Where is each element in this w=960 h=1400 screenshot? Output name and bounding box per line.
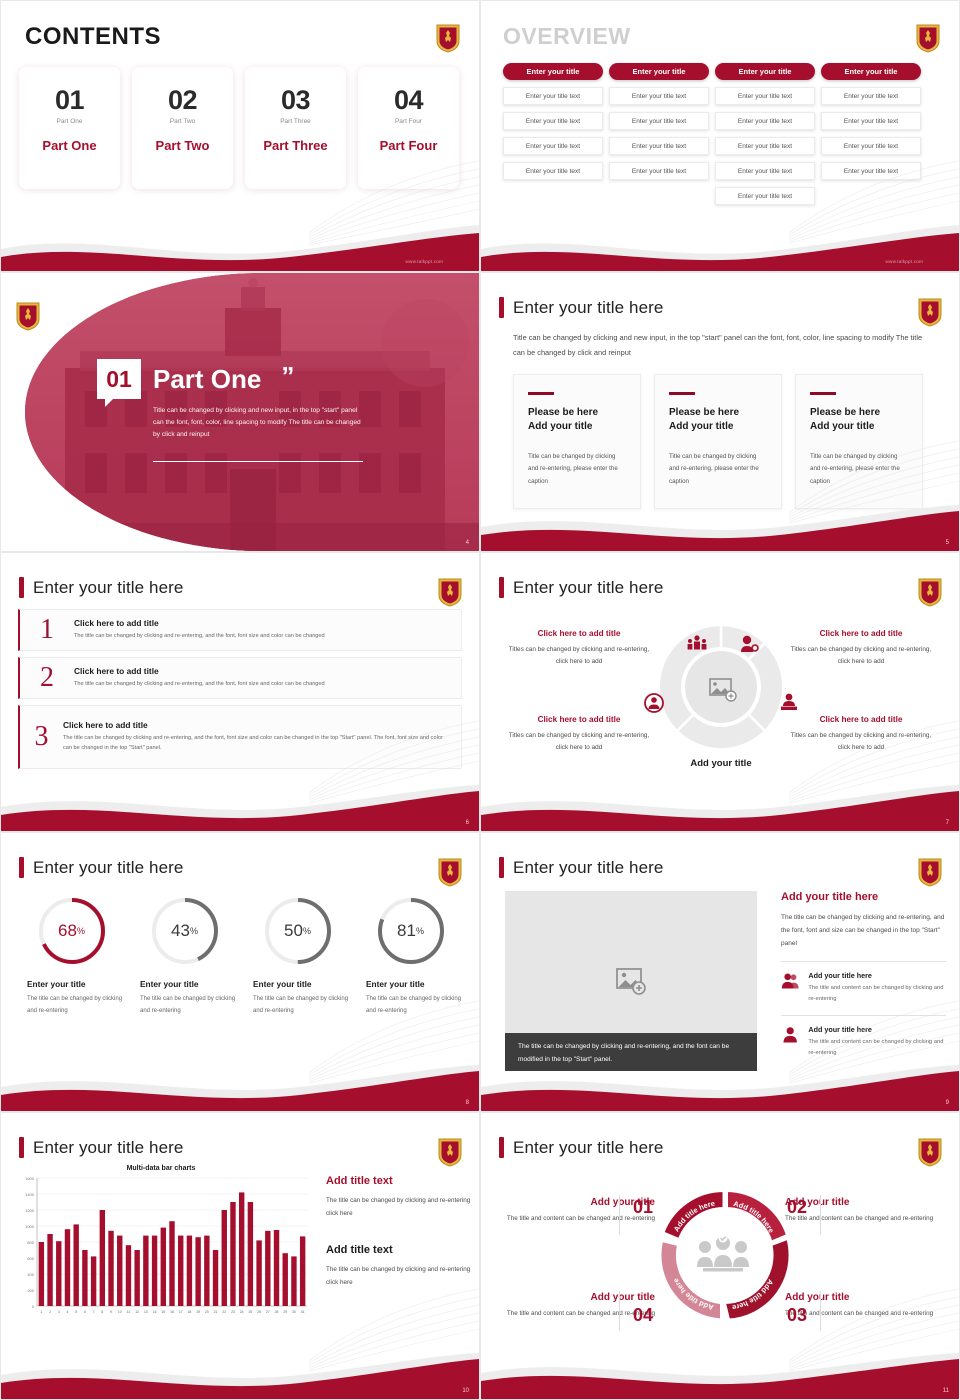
- wave-footer: [481, 785, 959, 831]
- cycle-text-02[interactable]: Add your title The title and content can…: [785, 1197, 935, 1225]
- svg-text:16: 16: [170, 1310, 174, 1314]
- title-text: Enter your title here: [513, 1138, 663, 1158]
- title-accent-bar: [19, 577, 24, 598]
- quadrant-heading: Add your title: [785, 1292, 935, 1303]
- chart-title: Multi-data bar charts: [11, 1165, 311, 1172]
- progress-ring: 43%: [149, 895, 221, 967]
- overview-item[interactable]: Enter your title text: [821, 162, 921, 180]
- list-description: The title can be changed by clicking and…: [63, 734, 445, 754]
- overview-item[interactable]: Enter your title text: [503, 137, 603, 155]
- svg-text:2: 2: [49, 1310, 51, 1314]
- block-heading: Add title text: [326, 1175, 476, 1187]
- ring-value: 43: [171, 921, 190, 941]
- wave-footer: [481, 1065, 959, 1111]
- page-number: 4: [466, 540, 469, 546]
- title-text: Enter your title here: [33, 578, 183, 598]
- ring-cell[interactable]: 50% Enter your title The title can be ch…: [241, 895, 354, 1017]
- svg-text:4: 4: [67, 1310, 69, 1314]
- svg-text:25: 25: [248, 1310, 252, 1314]
- person-circle-icon: [644, 693, 664, 713]
- quote-mark-icon: ”: [281, 359, 294, 393]
- donut-graphic: [653, 619, 789, 755]
- svg-text:1200: 1200: [25, 1208, 35, 1213]
- svg-text:8: 8: [101, 1310, 103, 1314]
- svg-text:17: 17: [179, 1310, 183, 1314]
- list-title: Click here to add title: [63, 720, 445, 730]
- donut-label-top-left[interactable]: Click here to add title Titles can be ch…: [503, 629, 655, 669]
- svg-text:13: 13: [144, 1310, 148, 1314]
- svg-text:1: 1: [40, 1310, 42, 1314]
- overview-item[interactable]: Enter your title text: [609, 162, 709, 180]
- list-desc: The title and content can be changed by …: [808, 983, 946, 1004]
- hatch-decoration: [789, 1267, 959, 1377]
- label-desc: Titles can be changed by clicking and re…: [503, 644, 655, 669]
- card-subtitle: Part One: [19, 118, 120, 125]
- card-description: Title can be changed by clicking and re-…: [528, 451, 626, 488]
- overview-item[interactable]: Enter your title text: [609, 87, 709, 105]
- svg-text:1400: 1400: [25, 1192, 35, 1197]
- overview-column: Enter your title Enter your title text E…: [503, 63, 603, 205]
- list-desc: The title and content can be changed by …: [808, 1037, 946, 1058]
- feature-card[interactable]: Please be here Add your title Title can …: [795, 374, 923, 509]
- right-panel: Add your title here The title can be cha…: [781, 891, 946, 1069]
- svg-text:12: 12: [135, 1310, 139, 1314]
- contents-card[interactable]: 04 Part Four Part Four: [358, 67, 459, 189]
- crest-logo: [917, 577, 943, 607]
- wave-footer: [1, 225, 479, 271]
- feature-card[interactable]: Please be here Add your title Title can …: [513, 374, 641, 509]
- card-title-line2: Add your title: [810, 420, 908, 434]
- progress-ring: 50%: [262, 895, 334, 967]
- overview-item[interactable]: Enter your title text: [715, 137, 815, 155]
- page-number: 10: [462, 1388, 469, 1394]
- svg-text:6: 6: [84, 1310, 86, 1314]
- divider: [619, 1195, 620, 1235]
- label-desc: Titles can be changed by clicking and re…: [785, 730, 937, 755]
- overview-item[interactable]: Enter your title text: [503, 162, 603, 180]
- card-title-line2: Add your title: [528, 420, 626, 434]
- ring-cell[interactable]: 43% Enter your title The title can be ch…: [128, 895, 241, 1017]
- divider-rule: [153, 461, 363, 462]
- card-dash-accent: [669, 392, 695, 395]
- card-description: Title can be changed by clicking and re-…: [669, 451, 767, 488]
- image-placeholder-icon: [615, 967, 647, 995]
- contents-card[interactable]: 01 Part One Part One: [19, 67, 120, 189]
- ring-value: 68: [58, 921, 77, 941]
- card-description: Title can be changed by clicking and re-…: [810, 451, 908, 488]
- card-title-line1: Please be here: [528, 406, 626, 420]
- column-title-pill[interactable]: Enter your title: [715, 63, 815, 80]
- ring-title: Enter your title: [15, 979, 128, 989]
- card-title-line2: Add your title: [669, 420, 767, 434]
- contents-card-row: 01 Part One Part One 02 Part Two Part Tw…: [19, 67, 459, 189]
- svg-text:1000: 1000: [25, 1224, 35, 1229]
- svg-text:10: 10: [118, 1310, 122, 1314]
- card-subtitle: Part Three: [245, 118, 346, 125]
- ring-desc: The title can be changed by clicking and…: [128, 994, 241, 1017]
- slide-overview: OVERVIEW Enter your title Enter your tit…: [480, 0, 960, 272]
- ring-desc: The title can be changed by clicking and…: [241, 994, 354, 1017]
- donut-label-bottom-left[interactable]: Click here to add title Titles can be ch…: [503, 715, 655, 755]
- page-title: Enter your title here: [499, 577, 663, 598]
- label-title: Click here to add title: [785, 715, 937, 724]
- crest-logo: [917, 1137, 943, 1167]
- wave-footer: [1, 785, 479, 831]
- page-number: 8: [466, 1100, 469, 1106]
- page-title: Enter your title here: [19, 577, 183, 598]
- slide-contents: CONTENTS 01 Part One Part One 02 Part Tw…: [0, 0, 480, 272]
- divider: [820, 1291, 821, 1331]
- list-body: Click here to add title The title can be…: [74, 666, 325, 690]
- page-number: 7: [946, 820, 949, 826]
- crest-logo: [437, 857, 463, 887]
- card-subtitle: Part Two: [132, 118, 233, 125]
- overview-grid: Enter your title Enter your title text E…: [503, 63, 921, 205]
- column-title-pill[interactable]: Enter your title: [609, 63, 709, 80]
- overview-item[interactable]: Enter your title text: [715, 87, 815, 105]
- list-title: Click here to add title: [74, 618, 325, 628]
- svg-text:30: 30: [292, 1310, 296, 1314]
- divider: [781, 961, 946, 962]
- svg-text:5: 5: [75, 1310, 77, 1314]
- slide-image-list: Enter your title here The title can be c…: [480, 832, 960, 1112]
- section-number-badge: 01: [97, 359, 141, 399]
- svg-text:0: 0: [32, 1304, 35, 1309]
- svg-text:400: 400: [27, 1272, 34, 1277]
- panel-paragraph: The title can be changed by clicking and…: [781, 911, 946, 950]
- list-item[interactable]: 2 Click here to add title The title can …: [18, 657, 462, 699]
- svg-text:18: 18: [188, 1310, 192, 1314]
- quadrant-desc: The title and content can be changed and…: [785, 1213, 935, 1225]
- overview-item[interactable]: Enter your title text: [609, 137, 709, 155]
- watermark: www.talkppt.com: [406, 259, 443, 264]
- side-text-panel: Add title text The title can be changed …: [326, 1175, 476, 1289]
- block-paragraph: The title can be changed by clicking and…: [326, 1264, 476, 1289]
- divider: [619, 1291, 620, 1331]
- slide-donut-diagram: Enter your title here Click here to add …: [480, 552, 960, 832]
- page-title: OVERVIEW: [503, 23, 631, 50]
- label-desc: Titles can be changed by clicking and re…: [503, 730, 655, 755]
- feature-card[interactable]: Please be here Add your title Title can …: [654, 374, 782, 509]
- slide-bar-chart: Enter your title here Multi-data bar cha…: [0, 1112, 480, 1400]
- svg-text:19: 19: [196, 1310, 200, 1314]
- page-title: Enter your title here: [499, 857, 663, 878]
- page-title: Enter your title here: [19, 1137, 183, 1158]
- watermark: www.talkppt.com: [886, 259, 923, 264]
- title-accent-bar: [499, 857, 504, 878]
- svg-text:26: 26: [257, 1310, 261, 1314]
- svg-text:200: 200: [27, 1288, 34, 1293]
- svg-text:31: 31: [301, 1310, 305, 1314]
- ring-desc: The title can be changed by clicking and…: [15, 994, 128, 1017]
- section-body-text: Title can be changed by clicking and new…: [153, 405, 363, 442]
- wave-footer: [481, 225, 959, 271]
- single-person-icon: [781, 1025, 799, 1045]
- crest-logo: [435, 23, 461, 53]
- list-number: 3: [20, 723, 63, 751]
- ring-value: 81: [397, 921, 416, 941]
- card-number: 04: [358, 87, 459, 114]
- page-number: 11: [943, 1388, 949, 1394]
- slide-percent-rings: Enter your title here 68% Enter your tit…: [0, 832, 480, 1112]
- svg-text:7: 7: [93, 1310, 95, 1314]
- crest-logo: [915, 23, 941, 53]
- column-title-pill[interactable]: Enter your title: [503, 63, 603, 80]
- title-accent-bar: [19, 1137, 24, 1158]
- page-title: Enter your title here: [499, 1137, 663, 1158]
- card-title-line1: Please be here: [810, 406, 908, 420]
- list-item[interactable]: 1 Click here to add title The title can …: [18, 609, 462, 651]
- svg-text:9: 9: [110, 1310, 112, 1314]
- wave-footer: [1, 1353, 479, 1399]
- ring-unit: %: [77, 926, 85, 936]
- group-people-icon: [686, 635, 708, 651]
- svg-text:800: 800: [27, 1240, 34, 1245]
- list-title: Add your title here: [808, 971, 946, 980]
- column-title-pill[interactable]: Enter your title: [821, 63, 921, 80]
- page-title: Enter your title here: [499, 297, 663, 318]
- card-label: Part Two: [132, 138, 233, 153]
- title-accent-bar: [499, 577, 504, 598]
- crest-logo: [917, 857, 943, 887]
- two-people-icon: [781, 971, 799, 991]
- ring-unit: %: [416, 926, 424, 936]
- svg-text:29: 29: [283, 1310, 287, 1314]
- card-label: Part Three: [245, 138, 346, 153]
- ring-row: 68% Enter your title The title can be ch…: [15, 895, 467, 1017]
- overview-item[interactable]: Enter your title text: [715, 112, 815, 130]
- section-heading-group: 01 Part One ”: [97, 359, 294, 399]
- svg-text:1600: 1600: [25, 1176, 35, 1181]
- page-number: 6: [466, 820, 469, 826]
- ring-title: Enter your title: [241, 979, 354, 989]
- overview-item[interactable]: Enter your title text: [503, 87, 603, 105]
- label-title: Click here to add title: [503, 715, 655, 724]
- bar-chart: Multi-data bar charts 020040060080010001…: [11, 1165, 311, 1330]
- donut-label-top-right[interactable]: Click here to add title Titles can be ch…: [785, 629, 937, 669]
- section-title: Part One: [153, 359, 261, 399]
- list-item[interactable]: Add your title here The title and conten…: [781, 1025, 946, 1058]
- image-caption: The title can be changed by clicking and…: [505, 1033, 757, 1071]
- title-accent-bar: [19, 857, 24, 878]
- overview-column: Enter your title Enter your title text E…: [609, 63, 709, 205]
- overview-column: Enter your title Enter your title text E…: [821, 63, 921, 205]
- svg-text:15: 15: [161, 1310, 165, 1314]
- label-desc: Titles can be changed by clicking and re…: [785, 644, 937, 669]
- overview-item[interactable]: Enter your title text: [715, 162, 815, 180]
- svg-text:3: 3: [58, 1310, 60, 1314]
- slide-cycle-diagram: Enter your title here Add your title The…: [480, 1112, 960, 1400]
- progress-ring: 68%: [36, 895, 108, 967]
- contents-card[interactable]: 03 Part Three Part Three: [245, 67, 346, 189]
- contents-card[interactable]: 02 Part Two Part Two: [132, 67, 233, 189]
- overview-item[interactable]: Enter your title text: [821, 137, 921, 155]
- quadrant-desc: The title and content can be changed and…: [785, 1308, 935, 1320]
- list-number: 2: [20, 664, 74, 692]
- list-body: Add your title here The title and conten…: [808, 1025, 946, 1058]
- ring-cell[interactable]: 81% Enter your title The title can be ch…: [354, 895, 467, 1017]
- block-paragraph: The title can be changed by clicking and…: [326, 1195, 476, 1220]
- svg-text:14: 14: [153, 1310, 157, 1314]
- lead-paragraph: Title can be changed by clicking and new…: [513, 331, 923, 361]
- title-text: Enter your title here: [33, 858, 183, 878]
- list-body: Click here to add title The title can be…: [74, 618, 325, 642]
- slide-three-cards: Enter your title here Title can be chang…: [480, 272, 960, 552]
- svg-text:11: 11: [127, 1310, 131, 1314]
- label-title: Click here to add title: [785, 629, 937, 638]
- divider: [820, 1195, 821, 1235]
- donut-label-bottom-right[interactable]: Click here to add title Titles can be ch…: [785, 715, 937, 755]
- title-text: Enter your title here: [33, 1138, 183, 1158]
- progress-ring: 81%: [375, 895, 447, 967]
- ring-cell[interactable]: 68% Enter your title The title can be ch…: [15, 895, 128, 1017]
- list-body: Click here to add title The title can be…: [63, 720, 451, 754]
- list-title: Click here to add title: [74, 666, 325, 676]
- svg-text:20: 20: [205, 1310, 209, 1314]
- wave-footer: [481, 505, 959, 551]
- quadrant-heading: Add your title: [505, 1292, 655, 1303]
- list-item[interactable]: Add your title here The title and conten…: [781, 971, 946, 1004]
- card-row: Please be here Add your title Title can …: [513, 374, 923, 509]
- list-body: Add your title here The title and conten…: [808, 971, 946, 1004]
- overview-column: Enter your title Enter your title text E…: [715, 63, 815, 205]
- card-dash-accent: [528, 392, 554, 395]
- card-number: 02: [132, 87, 233, 114]
- title-text: Enter your title here: [513, 578, 663, 598]
- card-number: 01: [19, 87, 120, 114]
- panel-heading: Add your title here: [781, 891, 946, 903]
- crest-logo: [437, 577, 463, 607]
- person-settings-icon: [739, 635, 759, 653]
- slide-deck-sheet: CONTENTS 01 Part One Part One 02 Part Tw…: [0, 0, 960, 1400]
- page-title: CONTENTS: [25, 23, 161, 51]
- list-number: 1: [20, 616, 74, 644]
- svg-text:21: 21: [214, 1310, 218, 1314]
- quadrant-heading: Add your title: [785, 1197, 935, 1208]
- svg-text:22: 22: [222, 1310, 226, 1314]
- card-label: Part Four: [358, 138, 459, 153]
- overview-item[interactable]: Enter your title text: [503, 112, 603, 130]
- list-item[interactable]: 3 Click here to add title The title can …: [18, 705, 462, 769]
- overview-item[interactable]: Enter your title text: [609, 112, 709, 130]
- title-text: Enter your title here: [513, 298, 663, 318]
- divider: [781, 1015, 946, 1016]
- card-subtitle: Part Four: [358, 118, 459, 125]
- wave-footer: [1, 1065, 479, 1111]
- donut-caption: Add your title: [653, 758, 789, 769]
- crest-logo: [437, 1137, 463, 1167]
- cycle-text-03[interactable]: Add your title The title and content can…: [785, 1292, 935, 1320]
- svg-text:600: 600: [27, 1256, 34, 1261]
- svg-text:23: 23: [231, 1310, 235, 1314]
- ring-unit: %: [303, 926, 311, 936]
- title-accent-bar: [499, 1137, 504, 1158]
- label-title: Click here to add title: [503, 629, 655, 638]
- person-desk-icon: [779, 693, 799, 711]
- title-accent-bar: [499, 297, 504, 318]
- numbered-list: 1 Click here to add title The title can …: [18, 609, 462, 769]
- ring-unit: %: [190, 926, 198, 936]
- overview-item[interactable]: Enter your title text: [821, 87, 921, 105]
- card-label: Part One: [19, 138, 120, 153]
- wave-footer: [481, 1353, 959, 1399]
- ring-desc: The title can be changed by clicking and…: [354, 994, 467, 1017]
- card-title-line1: Please be here: [669, 406, 767, 420]
- page-title: Enter your title here: [19, 857, 183, 878]
- list-description: The title can be changed by clicking and…: [74, 680, 325, 690]
- page-number: 9: [946, 1100, 949, 1106]
- ring-value: 50: [284, 921, 303, 941]
- slide-numbered-list: Enter your title here 1 Click here to ad…: [0, 552, 480, 832]
- ring-title: Enter your title: [354, 979, 467, 989]
- svg-text:27: 27: [266, 1310, 270, 1314]
- card-number: 03: [245, 87, 346, 114]
- list-description: The title can be changed by clicking and…: [74, 632, 325, 642]
- svg-text:24: 24: [240, 1310, 244, 1314]
- slide-section-divider: 01 Part One ” Title can be changed by cl…: [0, 272, 480, 552]
- card-dash-accent: [810, 392, 836, 395]
- page-number: 5: [946, 540, 949, 546]
- svg-text:28: 28: [275, 1310, 279, 1314]
- overview-item[interactable]: Enter your title text: [821, 112, 921, 130]
- cycle-graphic: Add title here Add title here Add title …: [651, 1183, 796, 1328]
- block-heading: Add title text: [326, 1244, 476, 1256]
- list-title: Add your title here: [808, 1025, 946, 1034]
- ring-title: Enter your title: [128, 979, 241, 989]
- title-text: Enter your title here: [513, 858, 663, 878]
- chart-canvas: 0200400600800100012001400160012345678910…: [11, 1172, 311, 1322]
- crest-logo: [917, 297, 943, 327]
- overview-item[interactable]: Enter your title text: [715, 187, 815, 205]
